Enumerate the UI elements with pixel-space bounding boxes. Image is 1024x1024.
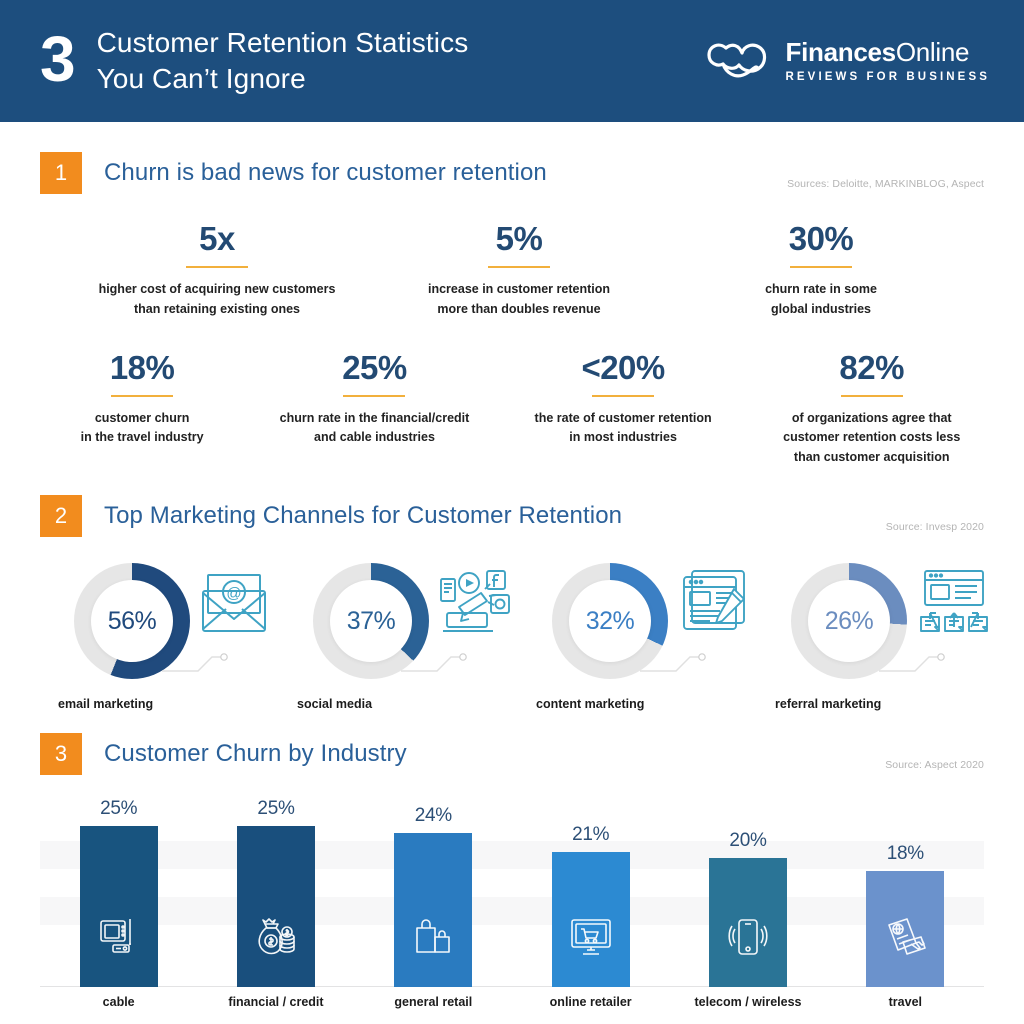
brand-name-thin: Online (896, 37, 969, 67)
bar-category-label: general retail (355, 995, 512, 1009)
stat-desc-line2: customer retention costs less (747, 428, 996, 447)
bar (552, 852, 630, 987)
grid-band (40, 897, 984, 925)
cable-tv-box-icon (97, 915, 141, 959)
cloud-infinity-logo-icon (706, 38, 772, 84)
stat-value: 5x (66, 222, 368, 257)
passport-plane-ticket-icon (883, 915, 927, 959)
stat-description: the rate of customer retention in most i… (499, 409, 748, 448)
stat-desc-line2: in the travel industry (34, 428, 250, 447)
stat-desc-line1: customer churn (34, 409, 250, 428)
stat-card: 5x higher cost of acquiring new customer… (66, 222, 368, 319)
bar (394, 833, 472, 987)
bar (709, 858, 787, 987)
stat-description: churn rate in the financial/credit and c… (250, 409, 499, 448)
stat-card: 5% increase in customer retention more t… (368, 222, 670, 319)
stat-card: 30% churn rate in some global industries (670, 222, 972, 319)
bar-category-label: travel (827, 995, 984, 1009)
email-envelope-at-icon: @ (200, 569, 274, 637)
donut-cell-content-marketing: 32% (526, 563, 765, 711)
stat-desc-line1: churn rate in the financial/credit (250, 409, 499, 428)
stat-desc-line1: of organizations agree that (747, 409, 996, 428)
page-header: 3 Customer Retention Statistics You Can’… (0, 0, 1024, 122)
bar-value-label: 18% (827, 843, 984, 865)
donut-percent: 37% (347, 607, 396, 636)
content-article-pencil-icon (678, 569, 752, 637)
donut-percent: 56% (108, 607, 157, 636)
section-source-3: Source: Aspect 2020 (885, 759, 984, 771)
stat-desc-line1: higher cost of acquiring new customers (66, 280, 368, 299)
bar-value-label: 25% (40, 798, 197, 820)
donut-chart-row: 56% @ email mar (48, 563, 1004, 711)
stat-rule (186, 266, 248, 269)
bar-chart: 25%25%24%21%20%18% (40, 807, 984, 987)
stat-rule (841, 395, 903, 398)
stat-desc-line2: in most industries (499, 428, 748, 447)
section-source-1: Sources: Deloitte, MARKINBLOG, Aspect (787, 178, 984, 190)
stat-card: <20% the rate of customer retention in m… (499, 351, 748, 467)
section-title-3: Customer Churn by Industry (104, 740, 407, 768)
donut-connector-line (160, 641, 230, 677)
section-header-1: 1 Churn is bad news for customer retenti… (40, 152, 984, 194)
stat-description: higher cost of acquiring new customers t… (66, 280, 368, 319)
page-title: Customer Retention Statistics You Can’t … (97, 25, 469, 97)
stat-desc-line2: and cable industries (250, 428, 499, 447)
bar-label-row: cablefinancial / creditgeneral retailonl… (40, 995, 984, 1015)
stat-desc-line2: than retaining existing ones (66, 300, 368, 319)
bar-value-label: 25% (197, 798, 354, 820)
section-header-2: 2 Top Marketing Channels for Customer Re… (40, 495, 984, 537)
brand-text: FinancesOnline REVIEWS FOR BUSINESS (786, 39, 991, 82)
donut-cell-social-media: 37% (287, 563, 526, 711)
donut-label: content marketing (526, 697, 765, 711)
stat-desc-line2: more than doubles revenue (368, 300, 670, 319)
stat-rule (790, 266, 852, 269)
stat-card: 25% churn rate in the financial/credit a… (250, 351, 499, 467)
donut-connector-line (877, 641, 947, 677)
stats-row-2: 18% customer churn in the travel industr… (34, 351, 996, 467)
bar-category-label: financial / credit (197, 995, 354, 1009)
page-title-line2: You Can’t Ignore (97, 61, 469, 97)
stat-desc-line2: global industries (670, 300, 972, 319)
header-number: 3 (40, 27, 75, 91)
brand-tagline: REVIEWS FOR BUSINESS (786, 71, 991, 83)
stat-rule (592, 395, 654, 398)
section-header-3: 3 Customer Churn by Industry Source: Asp… (40, 733, 984, 775)
stat-rule (488, 266, 550, 269)
stat-desc-line1: the rate of customer retention (499, 409, 748, 428)
brand-name: FinancesOnline (786, 39, 970, 66)
bar-category-label: telecom / wireless (669, 995, 826, 1009)
stat-card: 18% customer churn in the travel industr… (34, 351, 250, 467)
bar (866, 871, 944, 987)
stat-card: 82% of organizations agree that customer… (747, 351, 996, 467)
section-source-2: Source: Invesp 2020 (886, 521, 984, 533)
stat-value: 5% (368, 222, 670, 257)
social-media-megaphone-icon (439, 569, 515, 637)
bar-category-label: cable (40, 995, 197, 1009)
section-title-1: Churn is bad news for customer retention (104, 159, 547, 187)
header-title-group: 3 Customer Retention Statistics You Can’… (40, 25, 468, 97)
stat-description: of organizations agree that customer ret… (747, 409, 996, 467)
stats-row-1: 5x higher cost of acquiring new customer… (66, 222, 972, 319)
page-title-line1: Customer Retention Statistics (97, 27, 469, 58)
donut-percent: 32% (586, 607, 635, 636)
stat-desc-line1: churn rate in some (670, 280, 972, 299)
bar-value-label: 20% (669, 830, 826, 852)
section-badge-3: 3 (40, 733, 82, 775)
donut-label: social media (287, 697, 526, 711)
stat-description: churn rate in some global industries (670, 280, 972, 319)
stat-desc-line1: increase in customer retention (368, 280, 670, 299)
donut-connector-line (399, 641, 469, 677)
money-bag-coins-icon (254, 915, 298, 959)
bar (80, 826, 158, 987)
online-cart-monitor-icon (569, 915, 613, 959)
stat-value: 25% (250, 351, 499, 386)
stat-rule (343, 395, 405, 398)
shopping-bags-icon (411, 915, 455, 959)
stat-value: <20% (499, 351, 748, 386)
donut-label: referral marketing (765, 697, 1004, 711)
stat-description: increase in customer retention more than… (368, 280, 670, 319)
stat-value: 82% (747, 351, 996, 386)
stat-rule (111, 395, 173, 398)
stat-value: 30% (670, 222, 972, 257)
bar (237, 826, 315, 987)
bar-category-label: online retailer (512, 995, 669, 1009)
donut-cell-referral-marketing: 26% (765, 563, 1004, 711)
bar-value-label: 24% (355, 805, 512, 827)
donut-percent: 26% (825, 607, 874, 636)
stat-value: 18% (34, 351, 250, 386)
referral-share-arrows-icon (917, 569, 995, 637)
donut-cell-email-marketing: 56% @ email mar (48, 563, 287, 711)
section-badge-2: 2 (40, 495, 82, 537)
stat-description: customer churn in the travel industry (34, 409, 250, 448)
brand-name-bold: Finances (786, 37, 896, 67)
stat-desc-line3: than customer acquisition (747, 448, 996, 467)
donut-connector-line (638, 641, 708, 677)
section-title-2: Top Marketing Channels for Customer Rete… (104, 502, 622, 530)
bar-value-label: 21% (512, 824, 669, 846)
mobile-phone-signal-icon (726, 915, 770, 959)
section-badge-1: 1 (40, 152, 82, 194)
donut-label: email marketing (48, 697, 287, 711)
svg-text:@: @ (226, 585, 241, 602)
infographic-page: 3 Customer Retention Statistics You Can’… (0, 0, 1024, 1024)
brand-logo: FinancesOnline REVIEWS FOR BUSINESS (706, 38, 991, 84)
bar-chart-container: 25%25%24%21%20%18% cablefinancial / cred… (0, 807, 1024, 1015)
chart-axis-line (40, 986, 984, 987)
